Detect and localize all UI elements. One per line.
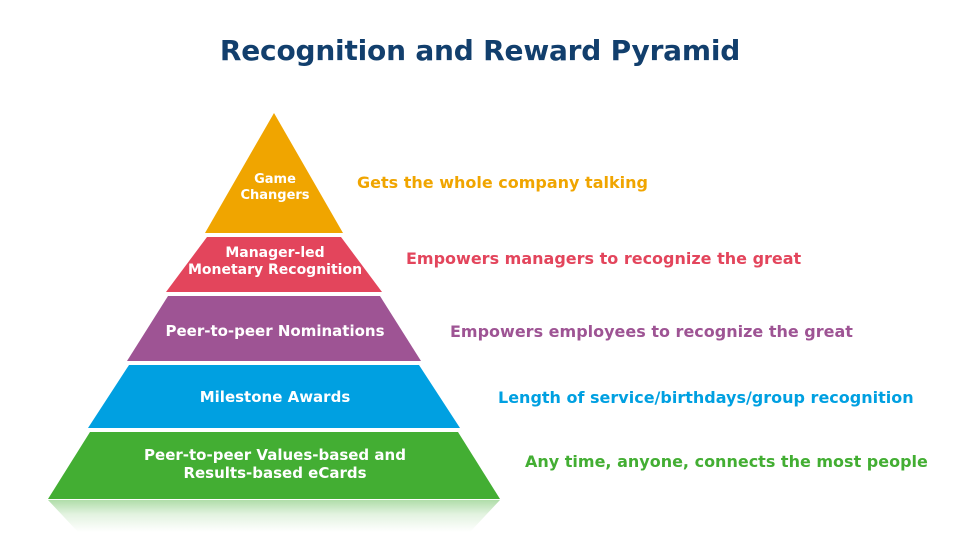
pyramid-tier-shape-peer-to-peer-nominations[interactable] — [127, 296, 421, 361]
pyramid-diagram: Game Changers Manager-led Monetary Recog… — [0, 0, 960, 540]
pyramid-tier-shape-manager-led-monetary-recognition[interactable] — [166, 237, 382, 292]
pyramid-tier-shape-peer-to-peer-ecards[interactable] — [48, 432, 500, 499]
pyramid-tier-shape-milestone-awards[interactable] — [88, 365, 460, 428]
pyramid-description-milestone-awards: Length of service/birthdays/group recogn… — [498, 388, 914, 408]
pyramid-tier-shape-game-changers[interactable] — [205, 113, 343, 233]
pyramid-description-manager-led-monetary-recognition: Empowers managers to recognize the great — [406, 249, 801, 269]
pyramid-reflection — [48, 500, 500, 532]
pyramid-description-peer-to-peer-nominations: Empowers employees to recognize the grea… — [450, 322, 853, 342]
pyramid-description-game-changers: Gets the whole company talking — [357, 173, 648, 193]
pyramid-description-peer-to-peer-ecards: Any time, anyone, connects the most peop… — [525, 452, 928, 472]
slide-canvas: Recognition and Reward Pyramid — [0, 0, 960, 540]
